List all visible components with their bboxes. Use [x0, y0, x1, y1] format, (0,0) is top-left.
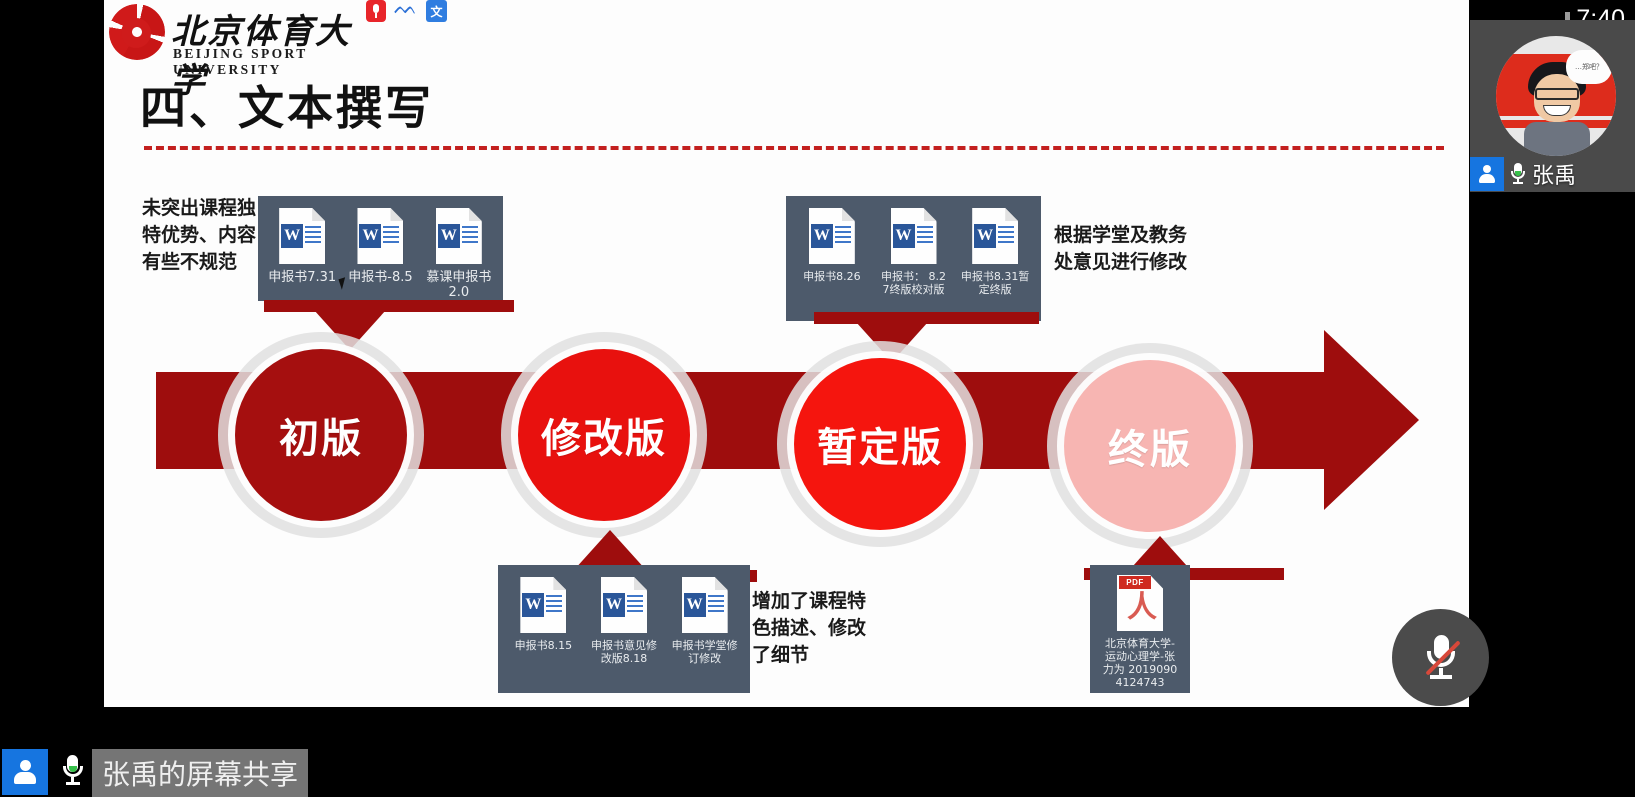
university-emblem-icon [109, 4, 165, 60]
mute-toggle-button[interactable] [1392, 609, 1489, 706]
file-item[interactable]: W 申报书-8.5 [346, 208, 414, 285]
word-document-icon: W [279, 208, 325, 264]
stage-circle-initial[interactable]: 初版 [235, 349, 407, 521]
participant-name: 张禹 [1532, 158, 1576, 190]
avatar: …郑吧？ [1496, 36, 1616, 156]
file-item[interactable]: W 慕课申报书2.0 [425, 208, 493, 300]
file-name: 申报书-8.5 [348, 270, 412, 285]
file-name: 申报书8.31暂定终版 [959, 270, 1031, 296]
file-item[interactable]: W 申报书8.31暂定终版 [959, 208, 1031, 296]
file-group-tentative[interactable]: W 申报书8.26 W 申报书： 8.27终版校对版 W 申报书8.31暂定终版 [786, 196, 1041, 321]
file-name: 北京体育大学-运动心理学-张力为 20190904124743 [1100, 637, 1180, 689]
file-item[interactable]: W 申报书8.26 [796, 208, 868, 283]
file-item[interactable]: W 申报书8.15 [508, 577, 579, 652]
participant-video-tile[interactable]: …郑吧？ 张禹 [1470, 20, 1635, 192]
microphone-icon[interactable] [62, 755, 84, 787]
file-name: 申报书7.31 [268, 270, 336, 285]
file-group-final[interactable]: PDF 人 北京体育大学-运动心理学-张力为 20190904124743 [1090, 565, 1190, 693]
file-item[interactable]: W 申报书学堂修订修改 [669, 577, 740, 665]
word-document-icon: W [520, 577, 566, 633]
mountain-icon [394, 0, 418, 22]
university-logo: 北京体育大学 BEIJING SPORT UNIVERSITY [109, 2, 369, 66]
file-group-initial[interactable]: W 申报书7.31 W 申报书-8.5 W 慕课申报书2.0 [258, 196, 503, 301]
file-group-revised[interactable]: W 申报书8.15 W 申报书意见修改版8.18 W 申报书学堂修订修改 [498, 565, 750, 693]
note-bottom: 增加了课程特色描述、修改了细节 [752, 588, 872, 669]
file-name: 慕课申报书2.0 [425, 270, 493, 300]
word-document-icon: W [436, 208, 482, 264]
note-left: 未突出课程独特优势、内容有些不规范 [142, 195, 267, 276]
file-item[interactable]: PDF 人 北京体育大学-运动心理学-张力为 20190904124743 [1100, 575, 1180, 689]
word-document-icon: W [601, 577, 647, 633]
screen-share-bar: 张禹的屏幕共享 [0, 707, 1635, 797]
word-document-icon: W [972, 208, 1018, 264]
stage-label: 初版 [279, 406, 363, 464]
file-name: 申报书： 8.27终版校对版 [878, 270, 950, 296]
file-name: 申报书8.15 [515, 639, 573, 652]
app-badge-icon: 文 [426, 0, 447, 22]
stage-circle-tentative[interactable]: 暂定版 [794, 358, 966, 530]
file-item[interactable]: W 申报书意见修改版8.18 [589, 577, 660, 665]
microphone-muted-icon [1424, 635, 1458, 681]
person-icon [2, 749, 48, 795]
file-item[interactable]: W 申报书： 8.27终版校对版 [878, 208, 950, 296]
title-divider [144, 146, 1444, 150]
tile-footer: 张禹 [1470, 156, 1635, 192]
share-status-label: 张禹的屏幕共享 [92, 749, 308, 797]
slide-title: 四、文本撰写 [140, 72, 434, 138]
file-item[interactable]: W 申报书7.31 [268, 208, 336, 285]
word-document-icon: W [357, 208, 403, 264]
screen-share-viewer: 7:40 北京体育大学 BEIJING SPORT UNIVERSITY 文 四… [0, 0, 1635, 797]
file-name: 申报书8.26 [803, 270, 861, 283]
word-document-icon: W [891, 208, 937, 264]
stage-label: 终版 [1108, 417, 1192, 475]
word-document-icon: W [809, 208, 855, 264]
stage-circle-revised[interactable]: 修改版 [518, 349, 690, 521]
person-icon [1470, 157, 1504, 191]
process-arrow-head-icon [1324, 330, 1419, 510]
file-name: 申报书学堂修订修改 [669, 639, 740, 665]
stage-circle-final[interactable]: 终版 [1064, 360, 1236, 532]
note-right: 根据学堂及教务处意见进行修改 [1054, 222, 1194, 276]
word-document-icon: W [682, 577, 728, 633]
pdf-document-icon: PDF 人 [1117, 575, 1163, 631]
avatar-speech-bubble: …郑吧？ [1566, 50, 1612, 84]
header-badges: 文 [366, 0, 447, 22]
stage-label: 暂定版 [817, 415, 943, 473]
shared-slide: 北京体育大学 BEIJING SPORT UNIVERSITY 文 四、文本撰写… [104, 0, 1469, 707]
stage-label: 修改版 [541, 406, 667, 464]
file-name: 申报书意见修改版8.18 [589, 639, 660, 665]
microphone-icon[interactable] [1510, 163, 1526, 185]
notification-badge-icon [366, 0, 386, 22]
